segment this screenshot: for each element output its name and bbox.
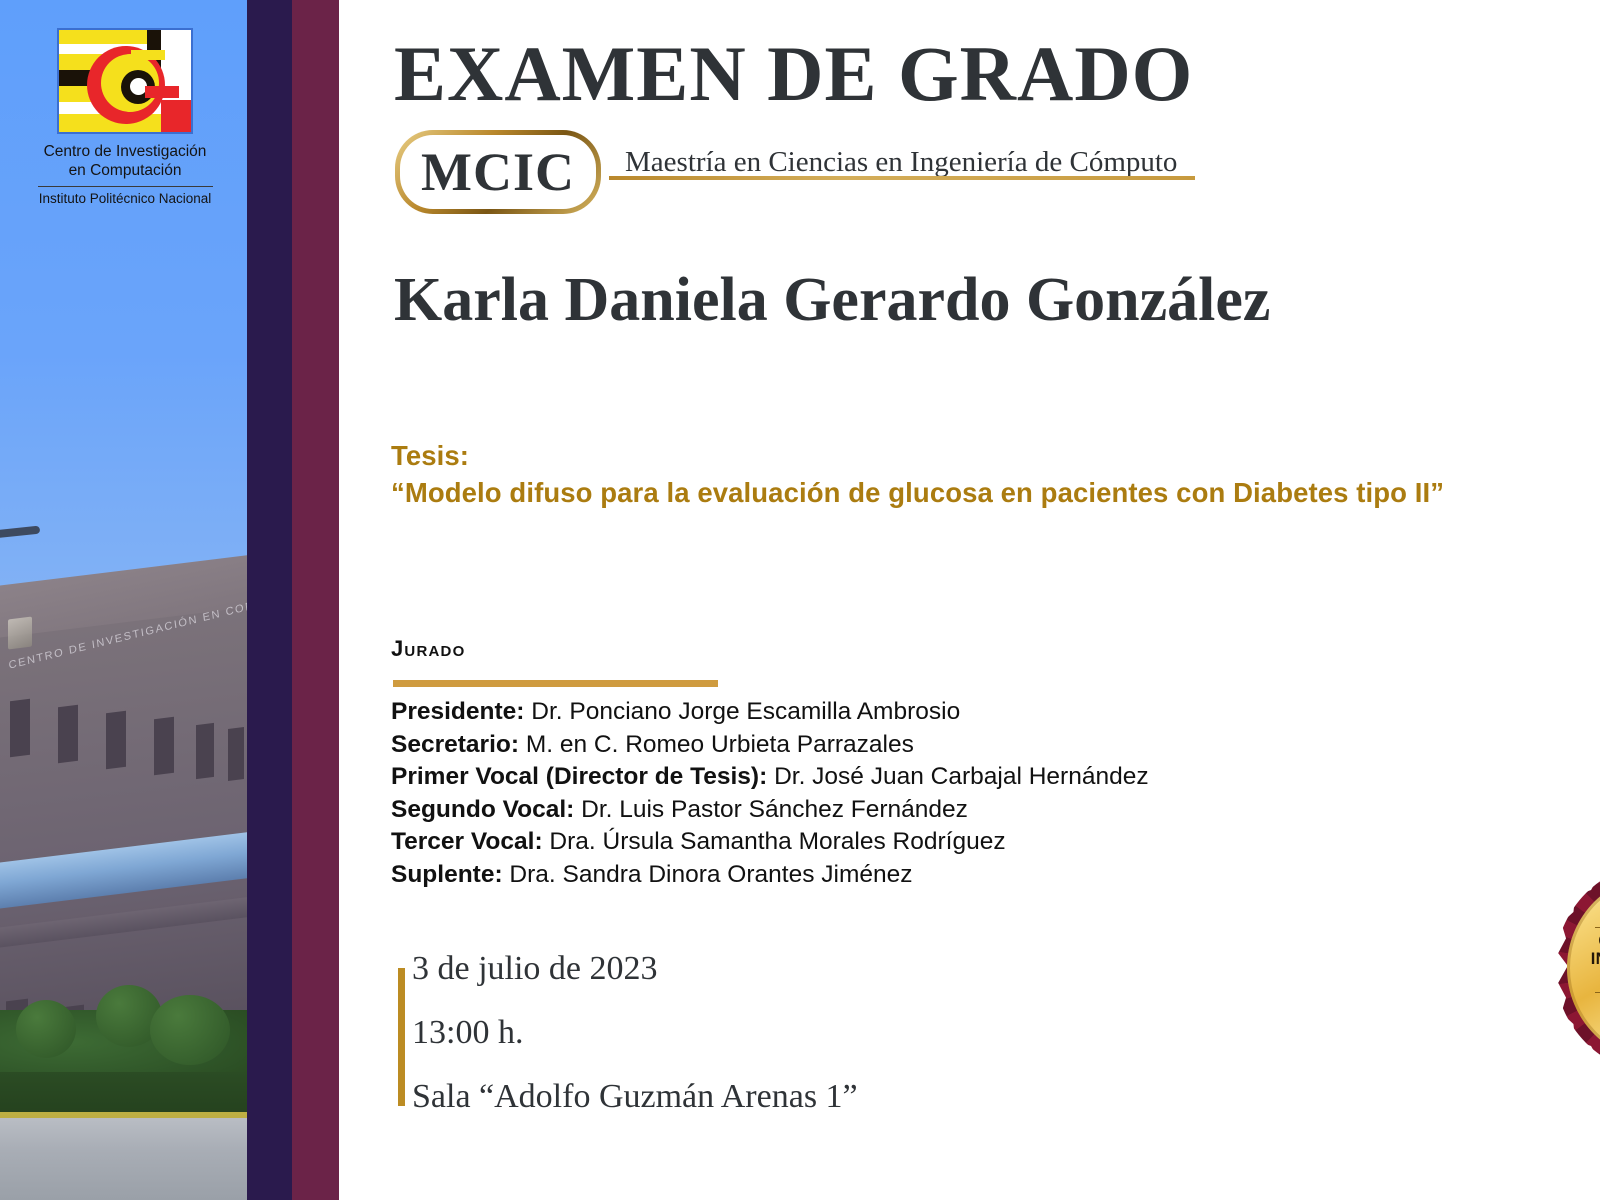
program-badge: MCIC <box>395 130 601 214</box>
institution-parent: Instituto Politécnico Nacional <box>30 191 220 206</box>
window <box>228 727 244 781</box>
stripe-maroon <box>292 0 339 1200</box>
jury-member-name: Dr. Luis Pastor Sánchez Fernández <box>581 796 968 823</box>
jury-member-name: Dr. Ponciano Jorge Escamilla Ambrosio <box>531 698 960 725</box>
jury-member-role: Presidente: <box>391 698 531 725</box>
main-content: EXAMEN DE GRADO MCIC Maestría en Ciencia… <box>339 0 1600 1200</box>
program-underline <box>609 176 1195 180</box>
accreditation-seal: SNP Sistema Nacional de Posgrados COMPET… <box>1555 862 1600 1074</box>
jury-member: Tercer Vocal: Dra. Úrsula Samantha Moral… <box>391 826 1391 859</box>
window <box>154 717 174 775</box>
jury-member: Segundo Vocal: Dr. Luis Pastor Sánchez F… <box>391 794 1391 827</box>
event-venue: Sala “Adolfo Guzmán Arenas 1” <box>412 1078 858 1116</box>
seal-divider-bottom <box>1595 992 1600 993</box>
event-time: 13:00 h. <box>412 1014 858 1052</box>
jury-member: Suplente: Dra. Sandra Dinora Orantes Jim… <box>391 859 1391 892</box>
jury-divider <box>393 680 718 687</box>
thesis-block: Tesis: “Modelo difuso para la evaluación… <box>391 438 1481 511</box>
jury-member: Primer Vocal (Director de Tesis): Dr. Jo… <box>391 761 1391 794</box>
jury-member-name: Dr. José Juan Carbajal Hernández <box>774 763 1149 790</box>
window <box>106 711 126 769</box>
jury-list: Presidente: Dr. Ponciano Jorge Escamilla… <box>391 696 1391 891</box>
logo-red-notch <box>145 86 179 98</box>
bush <box>16 1000 76 1058</box>
logo-divider <box>38 186 213 187</box>
seal-text: SNP Sistema Nacional de Posgrados COMPET… <box>1555 862 1600 1074</box>
program-row: MCIC Maestría en Ciencias en Ingeniería … <box>395 130 1177 214</box>
thesis-label: Tesis: <box>391 438 1481 475</box>
page-title: EXAMEN DE GRADO <box>394 35 1193 113</box>
event-details: 3 de julio de 2023 13:00 h. Sala “Adolfo… <box>384 950 858 1116</box>
seal-divider-top <box>1595 927 1600 928</box>
institution-name-line1: Centro de Investigación <box>44 143 207 160</box>
seal-award-line2: INTERNACIONAL <box>1591 951 1600 968</box>
cic-logo-block: Centro de Investigación en Computación I… <box>30 28 220 206</box>
jury-member: Secretario: M. en C. Romeo Urbieta Parra… <box>391 729 1391 762</box>
window <box>10 699 30 757</box>
event-accent-bar <box>398 968 405 1106</box>
student-name: Karla Daniela Gerardo González <box>394 265 1270 336</box>
jury-member-name: Dra. Sandra Dinora Orantes Jiménez <box>509 861 912 888</box>
institution-name-line2: en Computación <box>69 162 182 179</box>
jury-member-role: Suplente: <box>391 861 509 888</box>
jury-member-name: Dra. Úrsula Samantha Morales Rodríguez <box>549 828 1005 855</box>
program-name: Maestría en Ciencias en Ingeniería de Có… <box>625 146 1177 179</box>
bush <box>150 995 230 1065</box>
pavement <box>0 1118 250 1200</box>
poster-root: CENTRO DE INVESTIGACIÓN EN COMPUTACIÓN <box>0 0 1600 1200</box>
window <box>196 723 214 779</box>
jury-member: Presidente: Dr. Ponciano Jorge Escamilla… <box>391 696 1391 729</box>
jury-heading: Jurado <box>391 636 465 662</box>
jury-member-name: M. en C. Romeo Urbieta Parrazales <box>526 731 914 758</box>
institution-name: Centro de Investigación en Computación <box>30 142 220 181</box>
stripe-purple <box>247 0 292 1200</box>
logo-yellow-notch <box>131 50 165 60</box>
event-date: 3 de julio de 2023 <box>412 950 858 988</box>
jury-member-role: Primer Vocal (Director de Tesis): <box>391 763 774 790</box>
jury-member-role: Segundo Vocal: <box>391 796 581 823</box>
jury-member-role: Secretario: <box>391 731 526 758</box>
ipn-crest-icon <box>8 617 32 650</box>
window <box>58 705 78 763</box>
cic-logo-icon <box>57 28 193 134</box>
thesis-title: “Modelo difuso para la evaluación de glu… <box>391 475 1481 512</box>
jury-member-role: Tercer Vocal: <box>391 828 549 855</box>
